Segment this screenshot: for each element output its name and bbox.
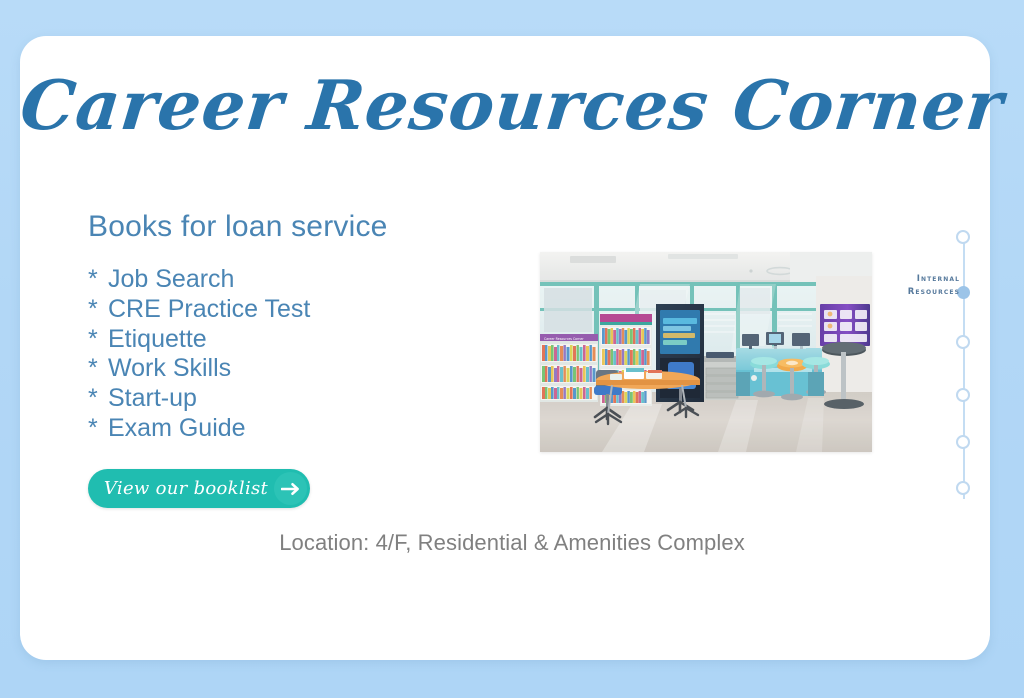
list-item-label: Exam Guide	[108, 414, 246, 442]
timeline-dot[interactable]	[956, 388, 970, 402]
view-booklist-button[interactable]: View our booklist	[88, 469, 310, 508]
list-item: *Exam Guide	[88, 414, 508, 444]
bullet-star-icon: *	[88, 265, 108, 295]
bullet-star-icon: *	[88, 384, 108, 414]
location-caption: Location: 4/F, Residential & Amenities C…	[0, 530, 1024, 556]
section-subheading: Books for loan service	[88, 210, 508, 243]
resource-room-photo: Career Resources Corner	[540, 252, 872, 452]
list-item-label: Etiquette	[108, 325, 207, 353]
bullet-star-icon: *	[88, 325, 108, 355]
list-item-label: Job Search	[108, 265, 234, 293]
timeline-dot[interactable]	[956, 481, 970, 495]
list-item: *Etiquette	[88, 325, 508, 355]
bullet-star-icon: *	[88, 295, 108, 325]
timeline-dot[interactable]	[956, 230, 970, 244]
page-title: Career Resources Corner	[0, 66, 1024, 146]
list-item: *Job Search	[88, 265, 508, 295]
view-booklist-label: View our booklist	[88, 478, 274, 499]
timeline-dot[interactable]	[956, 435, 970, 449]
left-content-column: Books for loan service *Job Search *CRE …	[88, 210, 508, 444]
bullet-star-icon: *	[88, 414, 108, 444]
bullet-star-icon: *	[88, 354, 108, 384]
arrow-right-icon	[274, 472, 307, 505]
list-item: *CRE Practice Test	[88, 295, 508, 325]
timeline-dot[interactable]	[956, 335, 970, 349]
list-item-label: Work Skills	[108, 354, 231, 382]
list-item-label: CRE Practice Test	[108, 295, 310, 323]
list-item-label: Start-up	[108, 384, 197, 412]
list-item: *Work Skills	[88, 354, 508, 384]
internal-resources-timeline: Internal Resources	[930, 225, 1000, 505]
list-item: *Start-up	[88, 384, 508, 414]
book-category-list: *Job Search *CRE Practice Test *Etiquett…	[88, 265, 508, 444]
timeline-label: Internal Resources	[840, 273, 960, 299]
timeline-line	[963, 237, 965, 499]
